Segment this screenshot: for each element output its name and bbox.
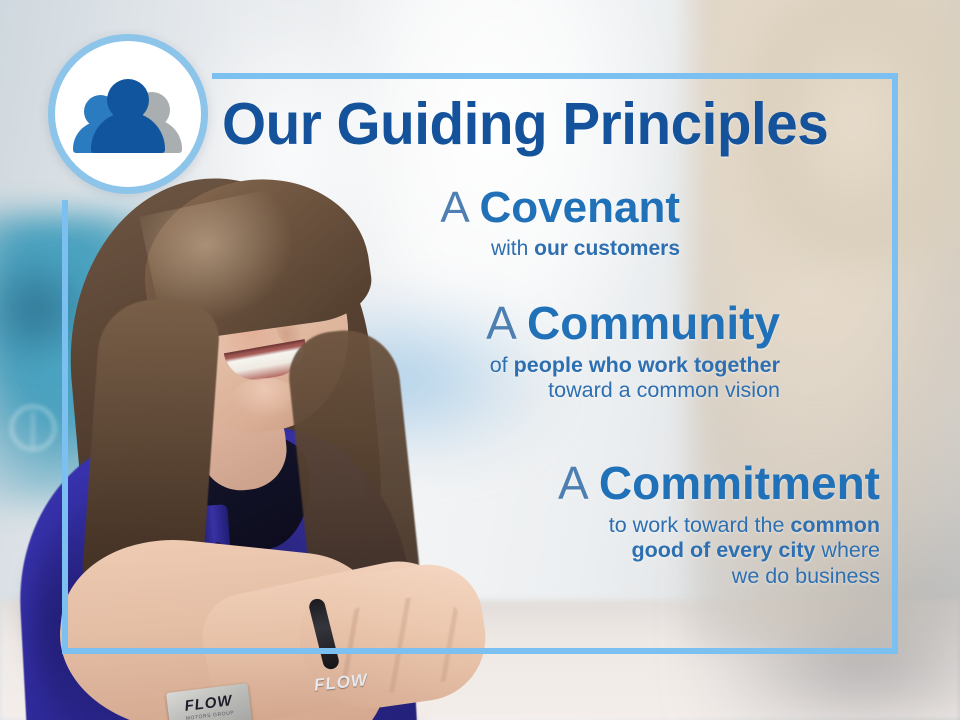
principle-description-line: we do business <box>340 564 880 589</box>
principle-community: A Community of people who work together … <box>280 300 780 404</box>
description-segment: of <box>490 353 514 377</box>
principle-heading: A Commitment <box>340 460 880 507</box>
principle-description-line: good of every city where <box>340 538 880 563</box>
description-segment-bold: people who work together <box>514 353 780 377</box>
principle-description-line: toward a common vision <box>280 378 780 403</box>
description-segment: we do business <box>732 564 880 588</box>
description-segment: where <box>815 538 880 562</box>
principle-article: A <box>486 297 527 349</box>
principle-description: of people who work together toward a com… <box>280 353 780 404</box>
description-segment-bold: our customers <box>534 237 680 260</box>
principle-description-line: to work toward the common <box>340 513 880 538</box>
principle-keyword: Commitment <box>599 457 880 509</box>
description-segment-bold: good of every city <box>631 538 815 562</box>
description-segment: with <box>491 237 534 260</box>
principle-commitment: A Commitment to work toward the common g… <box>340 460 880 589</box>
principle-article: A <box>440 183 479 232</box>
description-segment-bold: common <box>790 513 880 537</box>
principle-description: with our customers <box>200 237 680 262</box>
principle-article: A <box>558 457 599 509</box>
principle-description: to work toward the common good of every … <box>340 513 880 589</box>
principle-description-line: of people who work together <box>280 353 780 378</box>
principle-covenant: A Covenant with our customers <box>200 186 680 262</box>
description-segment: to work toward the <box>609 513 791 537</box>
principle-keyword: Covenant <box>480 183 680 232</box>
principle-heading: A Covenant <box>200 186 680 231</box>
principle-description-line: with our customers <box>200 237 680 262</box>
principle-heading: A Community <box>280 300 780 347</box>
banner-content: Our Guiding Principles A Covenant with o… <box>0 0 960 720</box>
page-title: Our Guiding Principles <box>222 95 836 154</box>
principle-keyword: Community <box>527 297 780 349</box>
description-segment: toward a common vision <box>548 378 780 402</box>
banner-canvas: FLOW MOTORS GROUP FLOW Our Guiding Princ… <box>0 0 960 720</box>
